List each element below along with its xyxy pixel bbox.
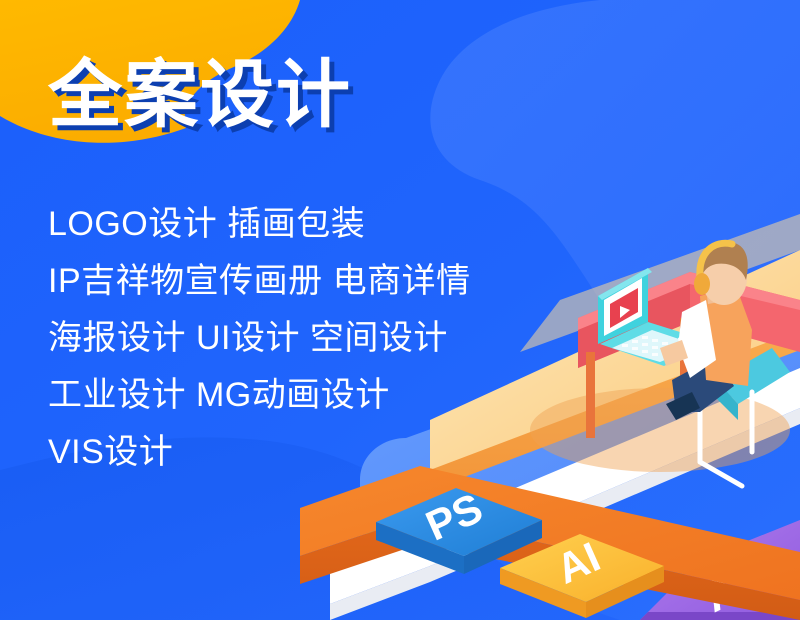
service-list: LOGO设计 插画包装 IP吉祥物宣传画册 电商详情 海报设计 UI设计 空间设… — [48, 196, 471, 481]
page-title: 全案设计 — [48, 58, 352, 132]
service-line-3: 海报设计 UI设计 空间设计 — [48, 310, 471, 367]
service-line-1: LOGO设计 插画包装 — [48, 196, 471, 253]
service-line-4: 工业设计 MG动画设计 — [48, 367, 471, 424]
service-line-2: IP吉祥物宣传画册 电商详情 — [48, 253, 471, 310]
desk-leg-left — [586, 352, 595, 438]
service-line-5: VIS设计 — [48, 424, 471, 481]
promo-banner: A — [0, 0, 800, 620]
